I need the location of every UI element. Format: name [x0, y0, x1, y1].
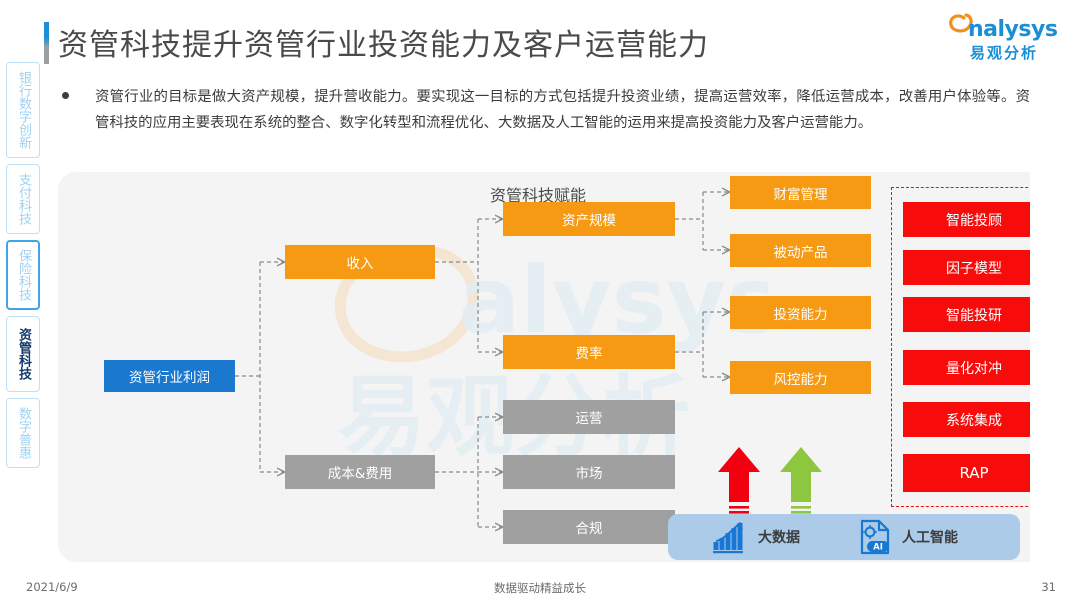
node-level4-2[interactable]: 投资能力 — [730, 296, 871, 329]
sidebar-item-label: 银行数字创新 — [15, 71, 31, 149]
node-level4-0[interactable]: 财富管理 — [730, 176, 871, 209]
node-level3-4[interactable]: 合规 — [503, 510, 675, 544]
enabler-label: 人工智能 — [902, 527, 958, 547]
sidebar: 银行数字创新 支付科技 保险科技 资管科技 数字普惠 — [6, 62, 40, 474]
bar-chart-icon — [712, 520, 748, 554]
svg-text:AI: AI — [873, 543, 883, 553]
node-tech-5[interactable]: RAP — [903, 454, 1030, 492]
bullet-paragraph: 资管行业的目标是做大资产规模，提升营收能力。要实现这一目标的方式包括提升投资业绩… — [62, 84, 1030, 136]
svg-text:nalysys: nalysys — [968, 17, 1058, 42]
node-level3-2[interactable]: 运营 — [503, 400, 675, 434]
node-label: 被动产品 — [774, 241, 828, 261]
sidebar-item-label: 支付科技 — [15, 173, 31, 225]
node-label: 市场 — [576, 462, 603, 482]
bullet-dot-icon — [62, 92, 69, 99]
node-level3-0[interactable]: 资产规模 — [503, 202, 675, 236]
node-tech-1[interactable]: 因子模型 — [903, 250, 1030, 285]
node-label: RAP — [959, 464, 988, 482]
node-tech-2[interactable]: 智能投研 — [903, 297, 1030, 332]
node-label: 量化对冲 — [946, 358, 1002, 378]
node-root[interactable]: 资管行业利润 — [104, 360, 235, 392]
sidebar-item-2[interactable]: 保险科技 — [6, 240, 40, 310]
node-level2-1[interactable]: 成本&费用 — [285, 455, 435, 489]
node-label: 资产规模 — [562, 209, 616, 229]
node-label: 财富管理 — [774, 183, 828, 203]
green-up-arrow-icon — [776, 444, 826, 520]
node-level4-1[interactable]: 被动产品 — [730, 234, 871, 267]
bullet-text: 资管行业的目标是做大资产规模，提升营收能力。要实现这一目标的方式包括提升投资业绩… — [95, 84, 1030, 136]
enabler-bigdata[interactable]: 大数据 — [712, 520, 800, 554]
diagram-card: alysys 易观分析 资管科技赋能 — [58, 172, 1030, 562]
node-label: 资管行业利润 — [129, 366, 210, 386]
node-label: 因子模型 — [946, 258, 1002, 278]
node-label: 收入 — [347, 252, 374, 272]
analysys-logo: nalysys 易观分析 — [948, 12, 1066, 64]
node-tech-3[interactable]: 量化对冲 — [903, 350, 1030, 385]
sidebar-item-3[interactable]: 资管科技 — [6, 316, 40, 392]
node-label: 智能投顾 — [946, 210, 1002, 230]
node-label: 智能投研 — [946, 305, 1002, 325]
ai-document-icon: AI — [858, 519, 892, 555]
footer: 2021/6/9 数据驱动精益成长 31 — [0, 580, 1080, 600]
node-tech-0[interactable]: 智能投顾 — [903, 202, 1030, 237]
footer-page-number: 31 — [1041, 580, 1056, 594]
red-up-arrow-icon — [714, 444, 764, 520]
sidebar-item-0[interactable]: 银行数字创新 — [6, 62, 40, 158]
node-label: 费率 — [576, 342, 603, 362]
node-level4-3[interactable]: 风控能力 — [730, 361, 871, 394]
node-label: 投资能力 — [774, 303, 828, 323]
footer-center-text: 数据驱动精益成长 — [0, 580, 1080, 596]
node-label: 合规 — [576, 517, 603, 537]
node-label: 成本&费用 — [328, 462, 393, 482]
enabler-ai[interactable]: AI 人工智能 — [858, 519, 958, 555]
slide-root: 资管科技提升资管行业投资能力及客户运营能力 nalysys 易观分析 银行数字创… — [0, 0, 1080, 608]
node-level2-0[interactable]: 收入 — [285, 245, 435, 279]
node-tech-4[interactable]: 系统集成 — [903, 402, 1030, 437]
node-level3-3[interactable]: 市场 — [503, 455, 675, 489]
sidebar-item-4[interactable]: 数字普惠 — [6, 398, 40, 468]
title-accent-bar — [44, 22, 49, 64]
sidebar-item-label: 数字普惠 — [15, 407, 31, 459]
page-title: 资管科技提升资管行业投资能力及客户运营能力 — [58, 20, 709, 64]
sidebar-item-1[interactable]: 支付科技 — [6, 164, 40, 234]
enabler-label: 大数据 — [758, 527, 800, 547]
node-label: 风控能力 — [774, 368, 828, 388]
logo-wordmark-icon: nalysys — [948, 12, 1066, 44]
node-level3-1[interactable]: 费率 — [503, 335, 675, 369]
node-label: 运营 — [576, 407, 603, 427]
sidebar-item-label: 资管科技 — [15, 328, 31, 380]
enabler-bar: 大数据 AI 人工智能 — [668, 514, 1020, 560]
logo-text-cn: 易观分析 — [970, 42, 1038, 63]
node-label: 系统集成 — [946, 410, 1002, 430]
sidebar-item-label: 保险科技 — [15, 249, 31, 301]
